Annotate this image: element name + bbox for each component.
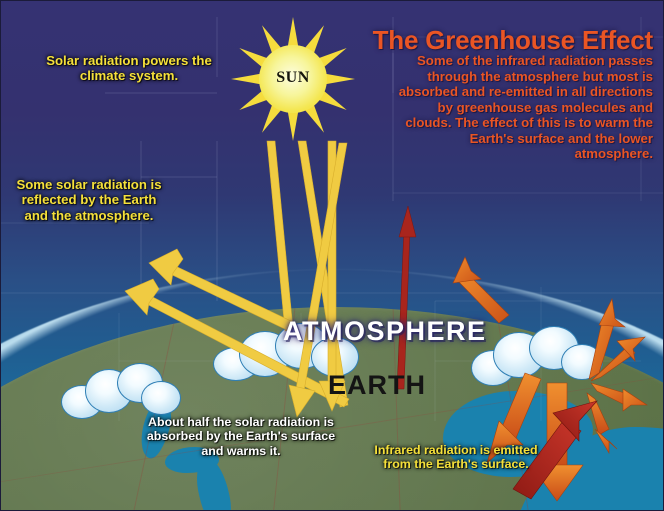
callout-solar-reflected: Some solar radiation is reflected by the… [9, 177, 169, 223]
solar-beam-reflected-cloud [149, 141, 295, 331]
infrared-arrow-right [591, 383, 647, 411]
sun-graphic: SUN [229, 17, 357, 141]
page-title: The Greenhouse Effect [373, 25, 653, 56]
infrared-arrow-up-left [453, 257, 509, 323]
greenhouse-effect-diagram: SUN The Greenhouse Effect Some of the in… [0, 0, 664, 511]
atmosphere-label: ATMOSPHERE [283, 316, 487, 347]
earth-label: EARTH [328, 370, 426, 401]
greenhouse-description: Some of the infrared radiation passes th… [393, 53, 653, 162]
sun-label: SUN [229, 69, 357, 87]
callout-solar-absorbed: About half the solar radiation is absorb… [141, 415, 341, 458]
infrared-arrow-down-right [587, 393, 617, 453]
callout-solar-powers: Solar radiation powers the climate syste… [41, 53, 217, 84]
infrared-escaping-arrow [397, 206, 416, 389]
callout-infrared-emitted: Infrared radiation is emitted from the E… [363, 443, 549, 472]
